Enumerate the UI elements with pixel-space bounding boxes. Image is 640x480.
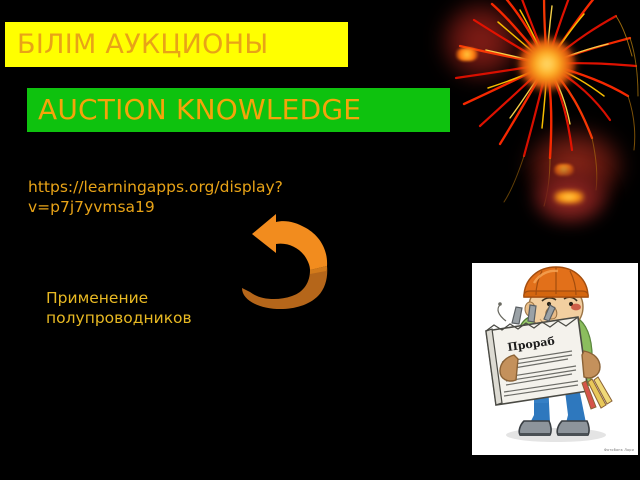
learningapps-link-text[interactable]: https://learningapps.org/display? v=p7j7… [28,178,328,218]
image-watermark: Фотобанк Лори [604,448,634,452]
firework-halo-upper-left [438,0,524,84]
presentation-slide: БІЛІМ АУКЦИОНЫ AUCTION KNOWLEDGE https:/… [0,0,640,480]
banner-english-label: AUCTION KNOWLEDGE [27,96,361,124]
firework-ember-small [528,166,612,228]
banner-kazakh-title: БІЛІМ АУКЦИОНЫ [5,22,348,67]
firework-core-glow [517,38,577,90]
banner-english-title: AUCTION KNOWLEDGE [27,88,450,132]
cartoon-illustration-frame: Прораб [472,263,638,455]
firework-spark-upper [456,48,478,61]
curved-u-turn-arrow-icon [238,214,330,314]
foreman-cartoon-image: Прораб [472,263,638,455]
banner-kazakh-label: БІЛІМ АУКЦИОНЫ [5,31,268,58]
ember-core [554,190,584,204]
